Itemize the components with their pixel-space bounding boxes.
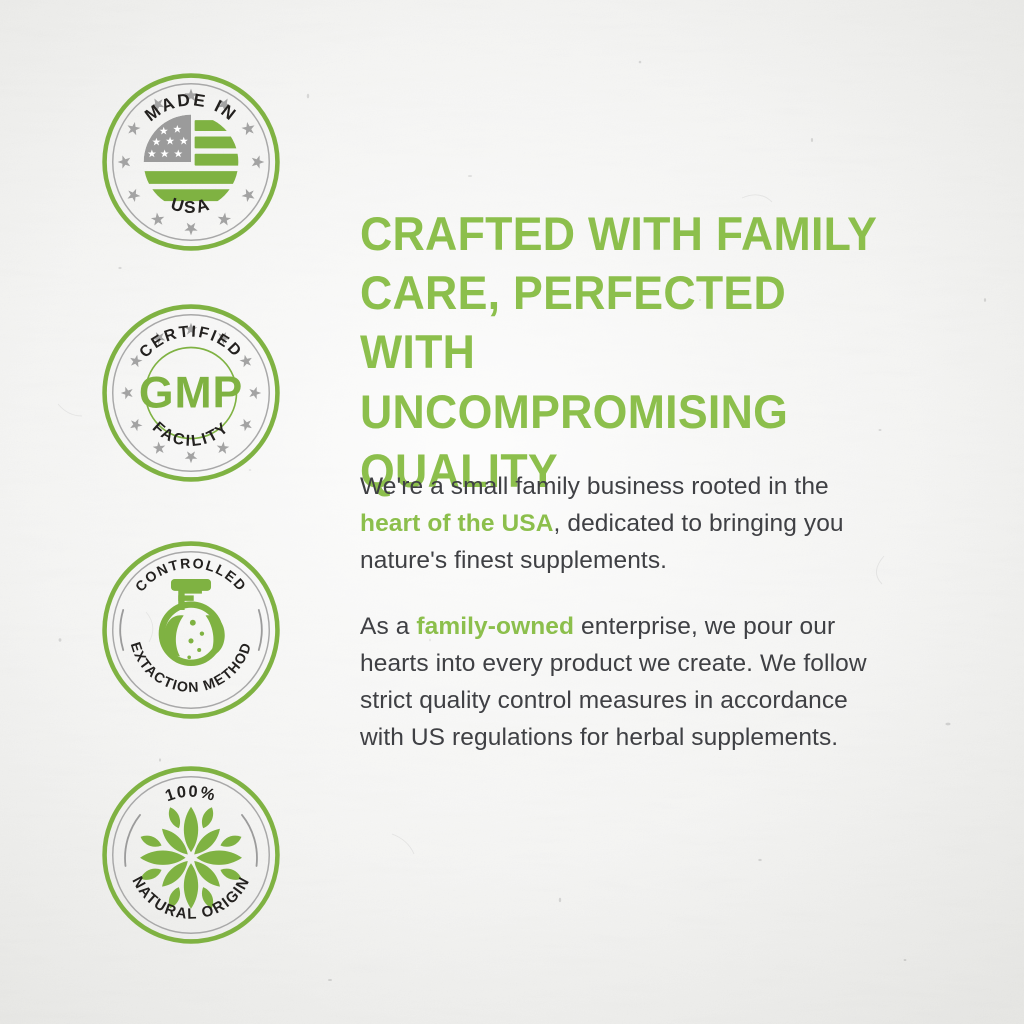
badge-made-in-usa: MADE IN USA [100,71,282,253]
svg-text:FACILITY: FACILITY [149,419,233,450]
paragraph-1-before: We're a small family business rooted in … [360,473,829,500]
badge-top-label: MADE IN [141,89,242,125]
body-copy: We're a small family business rooted in … [360,468,890,757]
usa-flag-circle-icon [136,115,249,201]
svg-text:USA: USA [169,194,214,217]
badge-gmp-certified-facility: GMP CERTIFIED FACILITY [100,302,282,484]
page-title: CRAFTED WITH FAMILY CARE, PERFECTED WITH… [360,204,892,500]
paragraph-1: We're a small family business rooted in … [360,468,890,580]
flask-leaf-icon [162,579,225,663]
paragraph-2-highlight: family-owned [416,613,574,640]
badge-top-text: MADE IN [141,89,242,125]
badge-natural-origin: 100% NATURAL ORIGIN [100,764,282,946]
gmp-center-label: GMP [139,369,243,418]
badge-controlled-extraction-method: CONTROLLED EXTACTION METHOD [100,539,282,721]
svg-text:EXTACTION METHOD: EXTACTION METHOD [128,640,255,695]
svg-text:MADE IN: MADE IN [141,89,242,125]
paragraph-1-highlight: heart of the USA [360,510,554,537]
infographic-canvas: MADE IN USA [0,0,1024,1024]
badge-bottom-label: FACILITY [149,419,233,450]
badge-bottom-label: USA [169,194,214,217]
badge-top-label: 100% [163,783,219,806]
badge-bottom-text: USA [169,194,214,217]
svg-text:100%: 100% [163,783,219,806]
badge-bottom-label: EXTACTION METHOD [128,640,255,695]
paragraph-2-before: As a [360,613,416,640]
paragraph-2: As a family-owned enterprise, we pour ou… [360,608,890,757]
